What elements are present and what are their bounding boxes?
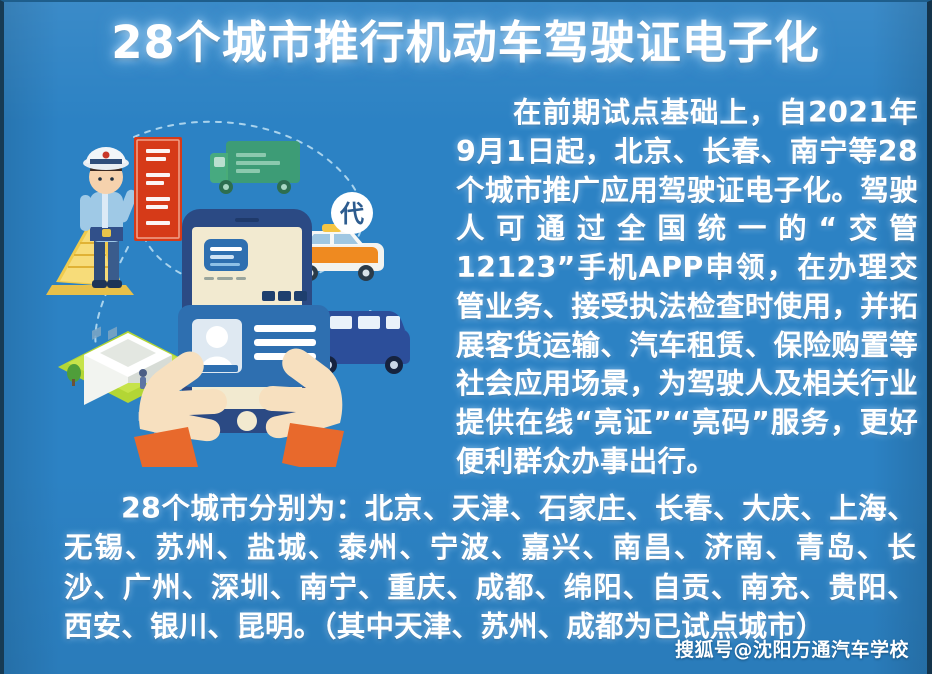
taxi-sign-text: 代 [339, 200, 364, 228]
red-vertical-banner [134, 137, 182, 241]
city-list-paragraph: 28个城市分别为：北京、天津、石家庄、长春、大庆、上海、无锡、苏州、盐城、泰州、… [64, 489, 916, 646]
body-paragraph: 在前期试点基础上，自2021年9月1日起，北京、长春、南宁等28个城市推广应用驾… [456, 94, 918, 482]
taxi-sign-bubble: 代 [331, 192, 373, 234]
poster-title-container: 28个城市推行机动车驾驶证电子化 [4, 16, 927, 69]
poster-title: 28个城市推行机动车驾驶证电子化 [111, 16, 820, 69]
illustration: 代 [22, 97, 452, 467]
green-cargo-truck [210, 141, 300, 194]
watermark: 搜狐号@沈阳万通汽车学校 [675, 635, 909, 662]
poster-canvas: 28个城市推行机动车驾驶证电子化 [0, 0, 932, 674]
